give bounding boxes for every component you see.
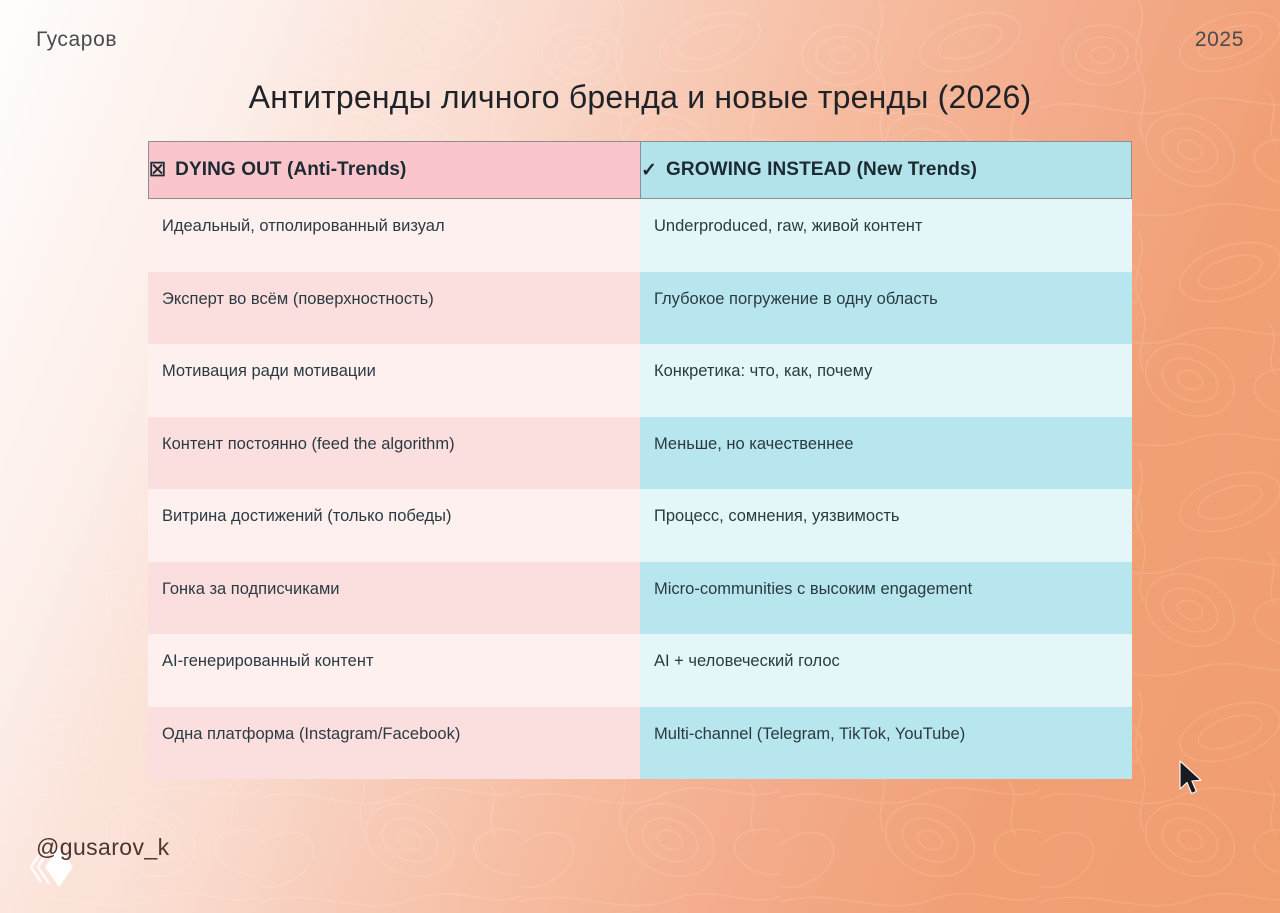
table-cell-new: Конкретика: что, как, почему xyxy=(640,344,1132,417)
page-title: Антитренды личного бренда и новые тренды… xyxy=(0,79,1280,116)
table-cell-new: Глубокое погружение в одну область xyxy=(640,272,1132,345)
table-header-anti-trends: ☒ DYING OUT (Anti-Trends) xyxy=(148,141,640,199)
table-header-anti-trends-label: DYING OUT (Anti-Trends) xyxy=(175,159,406,181)
table-cell-anti: Идеальный, отполированный визуал xyxy=(148,199,640,272)
table-cell-anti: AI-генерированный контент xyxy=(148,634,640,707)
table-cell-anti: Одна платформа (Instagram/Facebook) xyxy=(148,707,640,780)
table-cell-anti: Гонка за подписчиками xyxy=(148,562,640,635)
year-label: 2025 xyxy=(1195,28,1244,52)
social-handle: @gusarov_k xyxy=(36,834,169,861)
table-grid: ☒ DYING OUT (Anti-Trends) ✓ GROWING INST… xyxy=(148,141,1132,779)
table-cell-new: Micro-communities с высоким engagement xyxy=(640,562,1132,635)
mouse-pointer-icon xyxy=(1178,760,1204,798)
slide-canvas: Гусаров 2025 Антитренды личного бренда и… xyxy=(0,0,1280,913)
comparison-table: ☒ DYING OUT (Anti-Trends) ✓ GROWING INST… xyxy=(148,141,1132,778)
missing-glyph-box-icon: ☒ xyxy=(149,159,166,182)
table-cell-new: AI + человеческий голос xyxy=(640,634,1132,707)
table-cell-anti: Контент постоянно (feed the algorithm) xyxy=(148,417,640,490)
table-cell-new: Процесс, сомнения, уязвимость xyxy=(640,489,1132,562)
table-cell-new: Underproduced, raw, живой контент xyxy=(640,199,1132,272)
brand-label: Гусаров xyxy=(36,28,117,52)
table-cell-new: Меньше, но качественнее xyxy=(640,417,1132,490)
table-cell-anti: Мотивация ради мотивации xyxy=(148,344,640,417)
table-cell-new: Multi-channel (Telegram, TikTok, YouTube… xyxy=(640,707,1132,780)
footer-brand-lockup: @gusarov_k xyxy=(28,839,76,895)
check-icon: ✓ xyxy=(641,159,657,182)
table-cell-anti: Витрина достижений (только победы) xyxy=(148,489,640,562)
table-header-new-trends: ✓ GROWING INSTEAD (New Trends) xyxy=(640,141,1132,199)
table-header-new-trends-label: GROWING INSTEAD (New Trends) xyxy=(666,159,977,181)
table-cell-anti: Эксперт во всём (поверхностность) xyxy=(148,272,640,345)
